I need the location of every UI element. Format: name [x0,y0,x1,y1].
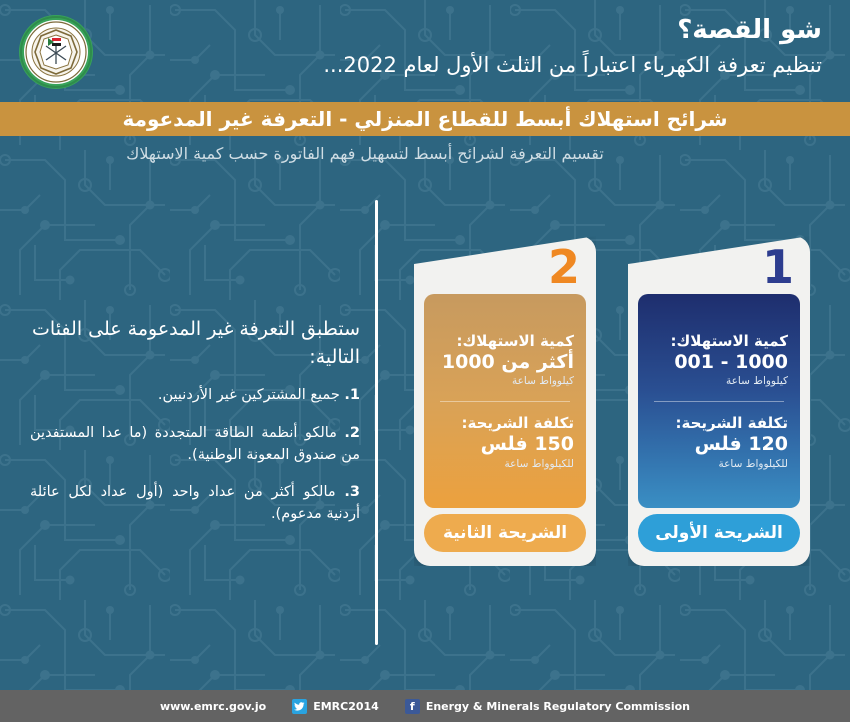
tariff-card-first-tier: 1 كمية الاستهلاك: 1000 - 001 كيلوواط ساع… [628,236,810,566]
list-item: 3. مالكو أكثر من عداد واحد (أول عداد لكل… [30,482,360,526]
section-tagline: تقسيم التعرفة لشرائح أبسط لتسهيل فهم الف… [0,144,850,163]
footer-twitter[interactable]: EMRC2014 [292,699,379,714]
card-rank-number: 2 [548,244,580,290]
list-item-number: 2. [344,425,360,441]
tariff-card-second-tier: 2 كمية الاستهلاك: أكثر من 1000 كيلوواط س… [414,236,596,566]
list-item-number: 1. [344,387,360,403]
consumption-label: كمية الاستهلاك: [650,332,788,350]
consumption-value: 1000 - 001 [650,351,788,375]
card-divider [654,401,784,402]
list-item: 1. جميع المشتركين غير الأردنيين. [30,385,360,407]
vertical-divider [375,200,378,645]
footer-website[interactable]: www.emrc.gov.jo [160,700,266,713]
poster-footer: www.emrc.gov.jo EMRC2014 f Energy & Mine… [0,690,850,722]
card-content: كمية الاستهلاك: أكثر من 1000 كيلوواط ساع… [424,294,586,508]
cost-group: تكلفة الشريحة: 150 فلس للكيلوواط ساعة [436,414,574,470]
poster-header: شو القصة؟ تنظيم تعرفة الكهرباء اعتباراً … [0,0,850,98]
facebook-icon: f [405,699,420,714]
card-tier-badge[interactable]: الشريحة الثانية [424,514,586,552]
eligibility-column: ستطبق التعرفة غير المدعومة على الفئات ال… [30,316,360,542]
cost-value: 120 فلس [650,433,788,457]
consumption-label: كمية الاستهلاك: [436,332,574,350]
page-subtitle: تنظيم تعرفة الكهرباء اعتباراً من الثلث ا… [122,51,822,79]
list-item-label: جميع المشتركين غير الأردنيين. [158,387,340,403]
footer-website-label: www.emrc.gov.jo [160,700,266,713]
infographic-poster: شو القصة؟ تنظيم تعرفة الكهرباء اعتباراً … [0,0,850,722]
footer-twitter-label: EMRC2014 [313,700,379,713]
consumption-value: أكثر من 1000 [436,351,574,375]
section-band-label: شرائح استهلاك أبسط للقطاع المنزلي - التع… [120,109,850,129]
card-content: كمية الاستهلاك: 1000 - 001 كيلوواط ساعة … [638,294,800,508]
cost-group: تكلفة الشريحة: 120 فلس للكيلوواط ساعة [650,414,788,470]
cost-unit: للكيلوواط ساعة [436,458,574,471]
consumption-unit: كيلوواط ساعة [650,375,788,388]
card-rank-number: 1 [762,244,794,290]
card-tier-badge[interactable]: الشريحة الأولى [638,514,800,552]
facebook-glyph: f [410,701,415,712]
footer-facebook[interactable]: f Energy & Minerals Regulatory Commissio… [405,699,690,714]
eligibility-heading: ستطبق التعرفة غير المدعومة على الفئات ال… [30,316,360,371]
cost-label: تكلفة الشريحة: [650,414,788,432]
emrc-seal-logo [18,14,94,90]
consumption-unit: كيلوواط ساعة [436,375,574,388]
list-item-label: مالكو أكثر من عداد واحد (أول عداد لكل عا… [30,484,360,522]
cost-label: تكلفة الشريحة: [436,414,574,432]
page-title: شو القصة؟ [122,14,822,47]
footer-facebook-label: Energy & Minerals Regulatory Commission [426,700,690,713]
list-item-label: مالكو أنظمة الطاقة المتجددة (ما عدا المس… [30,425,360,463]
card-divider [440,401,570,402]
list-item-number: 3. [344,484,360,500]
twitter-icon [292,699,307,714]
consumption-group: كمية الاستهلاك: 1000 - 001 كيلوواط ساعة [650,332,788,388]
cost-unit: للكيلوواط ساعة [650,458,788,471]
header-title-block: شو القصة؟ تنظيم تعرفة الكهرباء اعتباراً … [122,14,822,79]
list-item: 2. مالكو أنظمة الطاقة المتجددة (ما عدا ا… [30,423,360,467]
section-band: شرائح استهلاك أبسط للقطاع المنزلي - التع… [0,102,850,136]
consumption-group: كمية الاستهلاك: أكثر من 1000 كيلوواط ساع… [436,332,574,388]
cost-value: 150 فلس [436,433,574,457]
